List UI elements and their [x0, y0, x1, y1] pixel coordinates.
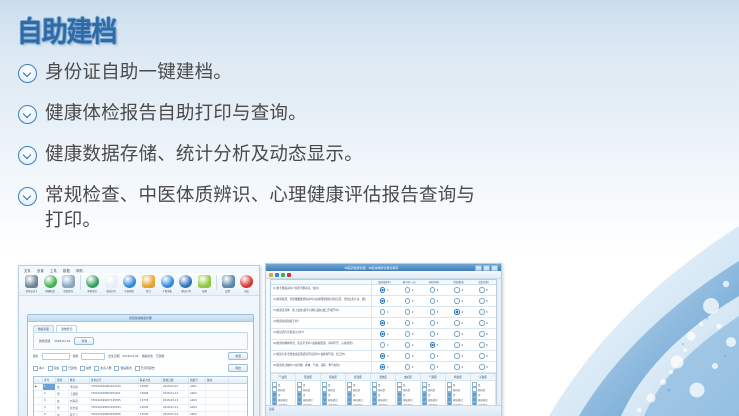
radio-button[interactable]	[380, 320, 385, 325]
checkbox-label: 倾向是	[478, 388, 485, 392]
checkbox-label: 体质辨识	[453, 398, 463, 402]
toolbar-button-camera[interactable]: 人脸采集	[159, 275, 176, 293]
grid-cell: 4	[43, 405, 56, 411]
grid-cell: 2018-03-13	[162, 405, 189, 411]
checkbox-box[interactable]	[94, 366, 99, 371]
toolbar-button-gear-circle[interactable]: 中医体质	[121, 275, 138, 293]
radio-option-3[interactable]: 3	[422, 309, 447, 314]
radio-label: 5	[486, 332, 488, 336]
toolbar-button-label: 报告打印	[106, 289, 115, 293]
grid-cell: 男	[56, 391, 69, 397]
radio-button[interactable]	[380, 287, 385, 292]
radio-option-4[interactable]: 4	[446, 353, 471, 358]
grid-header-row: 序号性别姓名身份证号联系方式建档日期档案号备注	[34, 377, 247, 384]
answer-options[interactable]: 12345	[372, 296, 496, 306]
toolbar-button-card-reader[interactable]: 身份证读卡	[23, 275, 40, 293]
filter-checkbox[interactable]: 家属	[48, 366, 60, 371]
window-title-label: 中医药健康管理 - 中医体质辨识量表填写	[269, 266, 474, 270]
toolbar-button-label: 人脸采集	[162, 289, 171, 293]
radio-option-3[interactable]: 3	[422, 364, 447, 369]
constitution-column: 气虚质是倾向是否体质辨识中医指导起居调摄运动保健饮食调养情志调摄其他:	[271, 374, 296, 407]
question-row: (1)您手脚发凉吗?(包括手脚冰凉、怕冷)12345	[271, 285, 496, 296]
grid-cell: 370102198503054321	[90, 391, 139, 397]
radio-label: 4	[461, 354, 463, 358]
radio-button[interactable]	[454, 309, 459, 314]
checkbox-label: 体质辨识	[403, 398, 413, 402]
toolbar-button-label: 随访计划	[181, 289, 190, 293]
radio-option-2[interactable]: 2	[397, 353, 422, 358]
toolbar-button-label: 体检登记	[88, 289, 97, 293]
grid-cell: 2018-03-13	[162, 398, 189, 404]
radio-option-4[interactable]: 4	[446, 309, 471, 314]
radio-option-5[interactable]: 5	[471, 353, 496, 358]
table-row[interactable]: ▶1女李红梅370102199001011234139052018-03-12A…	[34, 384, 247, 391]
list-item-label: 健康数据存储、统计分析及动态显示。	[45, 142, 363, 167]
checkbox-label: 已建档	[68, 366, 76, 370]
toolbar-button-magnifier[interactable]: 档案查询	[60, 275, 77, 293]
radio-button[interactable]	[479, 287, 484, 292]
radio-label: 5	[486, 343, 488, 347]
question-text: (4)您容易感到疲乏吗?	[271, 318, 372, 328]
question-text: (7)您因为生活状态改变而感到不适应吗?(如换新环境、新工作)	[271, 351, 372, 361]
bar-chart-icon	[142, 275, 155, 288]
tab-archive-register[interactable]: 建档登记	[56, 325, 77, 332]
app-window: 文件 设置 工具 数据 帮助 身份证读卡健康档案档案查询体检登记报告打印中医体质…	[19, 266, 259, 416]
checkbox-label: 慢病随访	[120, 366, 131, 370]
table-row[interactable]: 3女刘海燕370102199207128765137052018-03-13A0…	[34, 398, 247, 405]
radio-label: 4	[461, 310, 463, 314]
radio-option-4[interactable]: 4	[446, 342, 471, 347]
radio-option-5[interactable]: 5	[471, 287, 496, 292]
questionnaire-body[interactable]: 没有(根本不)很少(有一点)有时(有些)经常(相当)总是(非常) (1)您手脚发…	[270, 279, 497, 407]
radio-button[interactable]	[405, 309, 410, 314]
birth-label: 出生日期	[108, 354, 119, 358]
radio-button[interactable]	[380, 331, 385, 336]
menu-item[interactable]: 帮助	[76, 268, 83, 273]
question-row: (6)您容易精神紧张、焦虑不安吗?(如情绪低落、闷闷不乐、心烦易怒)12345	[271, 340, 496, 351]
toolbar-button-clock[interactable]: 随访计划	[177, 275, 194, 293]
constitution-column-body[interactable]: 是倾向是否体质辨识中医指导起居调摄运动保健饮食调养情志调摄其他:	[346, 381, 370, 407]
radio-option-5[interactable]: 5	[471, 364, 496, 369]
table-row[interactable]: 2男王建国370102198503054321138062018-03-12A0…	[34, 391, 247, 398]
checkbox-label: 倾向是	[378, 388, 385, 392]
toolbar-button-globe[interactable]: 体检登记	[84, 275, 101, 293]
constitution-column-body[interactable]: 是倾向是否体质辨识中医指导起居调摄运动保健饮食调养情志调摄其他:	[471, 381, 495, 407]
list-item: 健康体检报告自助打印与查询。	[18, 101, 488, 126]
grid-cell: 女	[56, 384, 69, 390]
name-input[interactable]	[42, 353, 70, 360]
answer-options[interactable]: 12345	[372, 285, 496, 295]
constitution-column-header: 湿热质	[371, 374, 395, 381]
scale-header-label: 总是(非常)	[471, 280, 496, 284]
filter-checkbox[interactable]: 本人	[33, 366, 45, 371]
date-from-value[interactable]: 2018-01-01	[54, 339, 70, 343]
maximize-icon[interactable]	[483, 265, 490, 271]
radio-option-3[interactable]: 3	[422, 287, 447, 292]
grid-cell: ▶	[34, 384, 43, 390]
checkbox-label: 否	[453, 393, 455, 397]
questionnaire-toolbar[interactable]	[266, 271, 501, 279]
radio-label: 1	[387, 332, 389, 336]
radio-option-5[interactable]: 5	[471, 320, 496, 325]
magnifier-icon	[62, 275, 75, 288]
checkbox-label: 是	[403, 383, 405, 387]
radio-button[interactable]	[430, 331, 435, 336]
radio-label: 1	[387, 354, 389, 358]
checkbox-box[interactable]	[114, 366, 119, 371]
radio-option-5[interactable]: 5	[471, 342, 496, 347]
grid-cell: 370102199001011234	[90, 384, 139, 390]
grid-cell: 2018-03-14	[162, 412, 189, 416]
filter-row-2: 本人家属已建档在册重点人群慢病随访已打印报告导出	[28, 362, 253, 374]
radio-label: 3	[437, 343, 439, 347]
power-icon	[240, 275, 253, 288]
radio-option-1[interactable]: 1	[372, 287, 397, 292]
toolbar-separator	[80, 275, 81, 290]
delete-icon[interactable]	[287, 273, 291, 277]
checkbox-label: 倾向是	[278, 388, 285, 392]
radio-label: 2	[412, 321, 414, 325]
radio-button[interactable]	[430, 364, 435, 369]
gender-select[interactable]	[81, 353, 105, 360]
name-label: 姓名	[33, 354, 39, 358]
constitution-column-header: 气郁质	[421, 374, 445, 381]
grid-column-header[interactable]: 身份证号	[90, 377, 139, 383]
grid-cell: A001	[189, 384, 206, 390]
filter-checkbox[interactable]: 重点人群	[94, 366, 111, 371]
radio-button[interactable]	[380, 298, 385, 303]
checkbox-box[interactable]	[33, 366, 38, 371]
radio-option-2[interactable]: 2	[397, 364, 422, 369]
radio-button[interactable]	[405, 353, 410, 358]
question-text: (2)您胃脘部、背部或腰膝部怕冷吗?(如胃肠部怕吃凉的东西、穿的比别人多、腰)	[271, 296, 372, 306]
radio-option-5[interactable]: 5	[471, 298, 496, 303]
radio-button[interactable]	[479, 331, 484, 336]
radio-label: 3	[437, 365, 439, 369]
answer-options[interactable]: 12345	[372, 351, 496, 361]
radio-button[interactable]	[430, 353, 435, 358]
question-row: (8)您容易过敏吗?(对药物、食物、气味、花粉、季节交替)12345	[271, 362, 496, 373]
toolbar-button-key[interactable]: 权限	[196, 275, 213, 293]
menu-item[interactable]: 工具	[50, 268, 57, 273]
radio-option-4[interactable]: 4	[446, 320, 471, 325]
filter-checkbox[interactable]: 已打印报告	[135, 366, 155, 371]
radio-label: 5	[486, 299, 488, 303]
radio-button[interactable]	[479, 298, 484, 303]
questionnaire-window: 中医药健康管理 - 中医体质辨识量表填写 没有(根本不)很少(有一点)有时(有些…	[266, 264, 501, 416]
grid-cell: 1	[43, 384, 56, 390]
grid-cell	[206, 405, 229, 411]
checkbox-label: 是	[478, 383, 480, 387]
radio-option-1[interactable]: 1	[372, 364, 397, 369]
feature-bullet-list: 身份证自助一键建档。 健康体检报告自助打印与查询。 健康数据存储、统计分析及动态…	[18, 60, 488, 249]
grid-column-header[interactable]: 姓名	[69, 377, 90, 383]
grid-column-header[interactable]: 建档日期	[162, 377, 189, 383]
radio-button[interactable]	[430, 298, 435, 303]
constitution-column-header: 平和质	[471, 374, 495, 381]
answer-options[interactable]: 12345	[372, 318, 496, 328]
radio-label: 3	[437, 321, 439, 325]
list-item: 健康数据存储、统计分析及动态显示。	[18, 142, 488, 167]
constitution-column-body[interactable]: 是倾向是否体质辨识中医指导起居调摄运动保健饮食调养情志调摄其他:	[371, 381, 395, 407]
checkbox-label: 是	[453, 383, 455, 387]
answer-options[interactable]: 12345	[372, 362, 496, 372]
radio-button[interactable]	[405, 364, 410, 369]
grid-cell: 3	[43, 398, 56, 404]
grid-cell: A004	[189, 405, 206, 411]
gender-label: 性别	[73, 354, 79, 358]
filter-checkbox[interactable]: 已建档	[62, 366, 76, 371]
radio-option-1[interactable]: 1	[372, 320, 397, 325]
grid-body[interactable]: ▶1女李红梅370102199001011234139052018-03-12A…	[34, 384, 247, 416]
constitution-column-body[interactable]: 是倾向是否体质辨识中医指导起居调摄运动保健饮食调养情志调摄其他:	[421, 381, 445, 407]
chevron-down-circle-icon	[18, 64, 37, 83]
radio-option-2[interactable]: 2	[397, 287, 422, 292]
radio-button[interactable]	[430, 287, 435, 292]
data-grid[interactable]: 序号性别姓名身份证号联系方式建档日期档案号备注 ▶1女李红梅3701021990…	[33, 376, 248, 416]
radio-option-2[interactable]: 2	[397, 342, 422, 347]
radio-button[interactable]	[380, 309, 385, 314]
radio-option-2[interactable]: 2	[397, 309, 422, 314]
search-panel: 建档日期 2018-01-01 查询	[33, 332, 248, 350]
mdi-title-bar: 居民健康档案管理	[28, 315, 253, 322]
radio-label: 5	[486, 321, 488, 325]
export-button[interactable]: 导出	[228, 364, 248, 372]
radio-button[interactable]	[430, 309, 435, 314]
checkbox-label: 是	[303, 383, 305, 387]
new-icon[interactable]	[281, 273, 285, 277]
question-rows[interactable]: (1)您手脚发凉吗?(包括手脚冰凉、怕冷)12345(2)您胃脘部、背部或腰膝部…	[271, 285, 496, 373]
page-title: 自助建档	[17, 17, 116, 47]
radio-label: 4	[461, 343, 463, 347]
mdi-title-label: 居民健康档案管理	[129, 316, 151, 320]
birth-value[interactable]: 2018-01-01	[122, 354, 138, 358]
radio-button[interactable]	[479, 342, 484, 347]
radio-button[interactable]	[454, 364, 459, 369]
checkbox-label: 家属	[54, 366, 60, 370]
radio-button[interactable]	[454, 342, 459, 347]
checkbox-label: 是	[353, 383, 355, 387]
radio-option-5[interactable]: 5	[471, 309, 496, 314]
radio-option-1[interactable]: 1	[372, 309, 397, 314]
radio-button[interactable]	[454, 287, 459, 292]
radio-button[interactable]	[405, 320, 410, 325]
grid-cell: 张志强	[69, 405, 90, 411]
save-icon[interactable]	[269, 273, 273, 277]
checkbox-label: 倾向是	[328, 388, 335, 392]
toolbar-button-color-wheel[interactable]: 健康档案	[42, 275, 59, 293]
radio-option-3[interactable]: 3	[422, 353, 447, 358]
constitution-column-header: 阴虚质	[321, 374, 345, 381]
grid-column-header[interactable]: 性别	[56, 377, 69, 383]
radio-option-4[interactable]: 4	[446, 298, 471, 303]
grid-cell: 2	[43, 391, 56, 397]
question-text: (8)您容易过敏吗?(对药物、食物、气味、花粉、季节交替)	[271, 362, 372, 372]
radio-option-3[interactable]: 3	[422, 298, 447, 303]
radio-option-4[interactable]: 4	[446, 287, 471, 292]
radio-option-1[interactable]: 1	[372, 298, 397, 303]
radio-button[interactable]	[405, 342, 410, 347]
checkbox-label: 倾向是	[303, 388, 310, 392]
radio-option-2[interactable]: 2	[397, 298, 422, 303]
radio-button[interactable]	[430, 342, 435, 347]
constitution-column-body[interactable]: 是倾向是否体质辨识中医指导起居调摄运动保健饮食调养情志调摄其他:	[396, 381, 420, 407]
radio-label: 2	[412, 332, 414, 336]
toolbar-button-power[interactable]: 退出	[238, 275, 255, 293]
toolbar-separator	[216, 275, 217, 290]
toolbar-button-label: 身份证读卡	[25, 289, 37, 293]
checkbox-label: 否	[353, 393, 355, 397]
toolbar-button-document[interactable]: 报告打印	[103, 275, 120, 293]
radio-button[interactable]	[405, 331, 410, 336]
menu-item[interactable]: 文件	[24, 268, 31, 273]
checkbox-label: 本人	[39, 366, 45, 370]
radio-button[interactable]	[380, 353, 385, 358]
radio-option-2[interactable]: 2	[397, 320, 422, 325]
constitution-column-header: 特禀质	[446, 374, 470, 381]
scale-header-label: 经常(相当)	[446, 280, 471, 284]
radio-button[interactable]	[479, 353, 484, 358]
radio-option-4[interactable]: 4	[446, 364, 471, 369]
checkbox-box[interactable]	[80, 366, 85, 371]
radio-option-3[interactable]: 3	[422, 342, 447, 347]
radio-label: 2	[412, 365, 414, 369]
checkbox-label: 倾向是	[453, 388, 460, 392]
grid-column-header[interactable]	[34, 377, 43, 383]
checkbox-label: 否	[378, 393, 380, 397]
radio-label: 1	[387, 310, 389, 314]
tab-archive-list[interactable]: 档案列表	[33, 325, 54, 332]
grid-cell: 13806	[139, 391, 162, 397]
minimize-icon[interactable]	[475, 265, 482, 271]
radio-button[interactable]	[405, 287, 410, 292]
radio-option-4[interactable]: 4	[446, 331, 471, 336]
checkbox-label: 是	[328, 383, 330, 387]
question-row: (2)您胃脘部、背部或腰膝部怕冷吗?(如胃肠部怕吃凉的东西、穿的比别人多、腰)1…	[271, 296, 496, 307]
toolbar-button-bar-chart[interactable]: 统计	[140, 275, 157, 293]
radio-label: 4	[461, 321, 463, 325]
search-button[interactable]: 查询	[74, 337, 94, 345]
radio-option-1[interactable]: 1	[372, 353, 397, 358]
radio-button[interactable]	[454, 320, 459, 325]
radio-option-5[interactable]: 5	[471, 331, 496, 336]
grid-column-header[interactable]: 备注	[206, 377, 229, 383]
screenshot-thumbnail-desktop-app[interactable]: 文件 设置 工具 数据 帮助 身份证读卡健康档案档案查询体检登记报告打印中医体质…	[18, 265, 260, 416]
screenshot-thumbnail-questionnaire[interactable]: 中医药健康管理 - 中医体质辨识量表填写 没有(根本不)很少(有一点)有时(有些…	[265, 263, 502, 416]
grid-column-header[interactable]: 联系方式	[139, 377, 162, 383]
grid-cell: 13505	[139, 412, 162, 416]
radio-label: 2	[412, 288, 414, 292]
radio-button[interactable]	[430, 320, 435, 325]
checkbox-box[interactable]	[48, 366, 53, 371]
toolbar[interactable]: 身份证读卡健康档案档案查询体检登记报告打印中医体质统计人脸采集随访计划权限设置退…	[19, 273, 259, 296]
question-text: (5)您说话声音低弱无力吗?	[271, 329, 372, 339]
grid-cell: 13605	[139, 405, 162, 411]
checkbox-label: 倾向是	[428, 388, 435, 392]
grid-cell: 陈玉兰	[69, 412, 90, 416]
table-row[interactable]: 5女陈玉兰370102196604039876135052018-03-14A0…	[34, 412, 247, 416]
clock-icon	[179, 275, 192, 288]
tab-strip[interactable]: 档案列表 建档登记	[28, 322, 253, 332]
chevron-down-circle-icon	[18, 146, 37, 165]
radio-button[interactable]	[454, 331, 459, 336]
menu-item[interactable]: 数据	[63, 268, 70, 273]
grid-column-header[interactable]: 档案号	[189, 377, 206, 383]
print-icon[interactable]	[275, 273, 279, 277]
constitution-column-body[interactable]: 是倾向是否体质辨识中医指导起居调摄运动保健饮食调养情志调摄其他:	[321, 381, 345, 407]
radio-button[interactable]	[479, 309, 484, 314]
radio-label: 3	[437, 354, 439, 358]
checkbox-label: 否	[278, 393, 280, 397]
close-icon[interactable]	[491, 265, 498, 271]
radio-button[interactable]	[479, 364, 484, 369]
answer-options[interactable]: 12345	[372, 329, 496, 339]
radio-label: 4	[461, 332, 463, 336]
answer-options[interactable]: 12345	[372, 307, 496, 317]
radio-button[interactable]	[479, 320, 484, 325]
status-value[interactable]: 已建档	[156, 354, 164, 358]
grid-cell	[206, 391, 229, 397]
table-row[interactable]: 4男张志强370102198811206543136052018-03-13A0…	[34, 405, 247, 412]
checkbox-label: 是	[278, 383, 280, 387]
window-title-bar: 中医药健康管理 - 中医体质辨识量表填写	[266, 264, 501, 271]
radio-option-3[interactable]: 3	[422, 331, 447, 336]
constitution-column-body[interactable]: 是倾向是否体质辨识中医指导起居调摄运动保健饮食调养情志调摄其他:	[446, 381, 470, 407]
checkbox-label: 倾向是	[353, 388, 360, 392]
radio-label: 2	[412, 310, 414, 314]
toolbar-button-tools[interactable]: 设置	[220, 275, 237, 293]
radio-label: 1	[387, 299, 389, 303]
radio-option-2[interactable]: 2	[397, 331, 422, 336]
grid-cell: 2018-03-12	[162, 391, 189, 397]
radio-button[interactable]	[380, 342, 385, 347]
menu-item[interactable]: 设置	[37, 268, 44, 273]
key-icon	[198, 275, 211, 288]
menu-bar[interactable]: 文件 设置 工具 数据 帮助	[19, 266, 259, 273]
radio-option-3[interactable]: 3	[422, 320, 447, 325]
radio-button[interactable]	[380, 364, 385, 369]
chevron-down-circle-icon	[18, 187, 37, 206]
radio-label: 1	[387, 288, 389, 292]
constitution-grid[interactable]: 气虚质是倾向是否体质辨识中医指导起居调摄运动保健饮食调养情志调摄其他:阳虚质是倾…	[271, 373, 496, 407]
radio-option-1[interactable]: 1	[372, 331, 397, 336]
card-reader-icon	[25, 275, 38, 288]
question-text: (6)您容易精神紧张、焦虑不安吗?(如情绪低落、闷闷不乐、心烦易怒)	[271, 340, 372, 350]
filter-checkbox[interactable]: 在册	[80, 366, 92, 371]
radio-button[interactable]	[454, 298, 459, 303]
grid-cell: 李红梅	[69, 384, 90, 390]
grid-column-header[interactable]: 序号	[43, 377, 56, 383]
checkbox-label: 体质辨识	[328, 398, 338, 402]
grid-cell	[34, 391, 43, 397]
grid-cell: 370102199207128765	[90, 398, 139, 404]
checkbox-label: 否	[478, 393, 480, 397]
grid-cell	[206, 412, 229, 416]
grid-cell: 男	[56, 405, 69, 411]
filter-checkbox[interactable]: 慢病随访	[114, 366, 131, 371]
radio-button[interactable]	[454, 353, 459, 358]
checkbox-box[interactable]	[135, 366, 140, 371]
checkbox-box[interactable]	[62, 366, 67, 371]
answer-options[interactable]: 12345	[372, 340, 496, 350]
question-row: (5)您说话声音低弱无力吗?12345	[271, 329, 496, 340]
radio-button[interactable]	[405, 298, 410, 303]
reset-button[interactable]: 重置	[228, 352, 248, 360]
constitution-column-body[interactable]: 是倾向是否体质辨识中医指导起居调摄运动保健饮食调养情志调摄其他:	[271, 381, 295, 407]
constitution-column-body[interactable]: 是倾向是否体质辨识中医指导起居调摄运动保健饮食调养情志调摄其他:	[296, 381, 320, 407]
constitution-column-header: 血瘀质	[396, 374, 420, 381]
radio-option-1[interactable]: 1	[372, 342, 397, 347]
